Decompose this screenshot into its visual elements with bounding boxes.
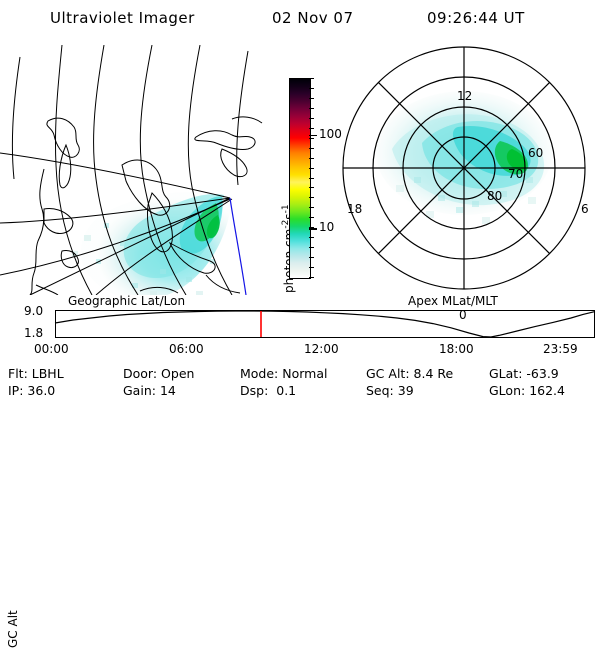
mlat-label-70: 70 [508, 167, 523, 181]
status-flt-key: Flt: [8, 366, 28, 381]
orbit-altitude-plot [55, 310, 595, 338]
status-gain-value: 14 [160, 383, 176, 398]
observation-date: 02 Nov 07 [272, 9, 354, 27]
status-ip-key: IP: [8, 383, 23, 398]
status-mode-key: Mode: [240, 366, 278, 381]
colorbar-minor-tick [309, 187, 314, 188]
colorbar-minor-tick [309, 277, 314, 278]
status-glat-value: -63.9 [526, 366, 558, 381]
orbit-ytick-bottom: 1.8 [24, 326, 43, 340]
orbit-xtick-2: 12:00 [304, 342, 339, 356]
status-glon-key: GLon: [489, 383, 525, 398]
colorbar-minor-tick [309, 128, 314, 129]
status-door-key: Door: [123, 366, 157, 381]
status-flt: Flt: LBHL [8, 366, 64, 381]
mlat-label-80: 80 [487, 189, 502, 203]
polar-plot-panel[interactable]: 12 6 0 18 60 70 80 [330, 45, 600, 295]
orbit-xtick-0: 00:00 [34, 342, 69, 356]
colorbar-minor-tick [309, 138, 314, 139]
colorbar-minor-tick [309, 247, 314, 248]
colorbar-minor-tick [309, 217, 314, 218]
status-seq-key: Seq: [366, 383, 394, 398]
status-seq-value: 39 [398, 383, 414, 398]
mlat-label-60: 60 [528, 146, 543, 160]
colorbar-minor-tick [309, 88, 314, 89]
colorbar-minor-tick [309, 257, 314, 258]
colorbar-minor-tick [309, 148, 314, 149]
status-flt-value: LBHL [32, 366, 64, 381]
orbit-xtick-4: 23:59 [543, 342, 578, 356]
observation-time: 09:26:44 UT [427, 9, 525, 27]
status-door-value: Open [161, 366, 194, 381]
status-dsp-value: 0.1 [276, 383, 296, 398]
status-ip: IP: 36.0 [8, 383, 55, 398]
status-dsp-key: Dsp: [240, 383, 268, 398]
status-glat-key: GLat: [489, 366, 522, 381]
colorbar-minor-tick [309, 237, 314, 238]
status-dsp: Dsp: 0.1 [240, 383, 296, 398]
mlt-label-12: 12 [457, 89, 472, 103]
colorbar-minor-tick [309, 118, 314, 119]
colorbar-gradient-strip [289, 78, 311, 279]
geographic-map-panel[interactable] [0, 45, 268, 295]
colorbar-minor-tick [309, 108, 314, 109]
polar-grid [343, 47, 585, 289]
colorbar-minor-tick [309, 78, 314, 79]
colorbar-minor-tick [309, 267, 314, 268]
colorbar-minor-tick [309, 158, 314, 159]
status-bar: Flt: LBHL Door: Open Mode: Normal GC Alt… [0, 366, 600, 400]
status-mode-value: Normal [282, 366, 327, 381]
mlt-label-18: 18 [347, 202, 362, 216]
orbit-y-axis-label: GC Alt [6, 610, 20, 648]
status-glat: GLat: -63.9 [489, 366, 559, 381]
orbit-ytick-top: 9.0 [24, 304, 43, 318]
status-gcalt-key: GC Alt: [366, 366, 410, 381]
colorbar-minor-tick [309, 207, 314, 208]
status-seq: Seq: 39 [366, 383, 414, 398]
colorbar-minor-tick [309, 168, 314, 169]
orbit-xtick-3: 18:00 [439, 342, 474, 356]
status-gain-key: Gain: [123, 383, 156, 398]
terminator-line [230, 198, 246, 295]
colorbar-minor-tick [309, 98, 314, 99]
colorbar-minor-tick [309, 197, 314, 198]
status-mode: Mode: Normal [240, 366, 328, 381]
mlt-label-6: 6 [581, 202, 589, 216]
status-glon: GLon: 162.4 [489, 383, 565, 398]
colorbar-major-tick [309, 135, 317, 137]
colorbar-major-tick [309, 228, 317, 230]
status-glon-value: 162.4 [529, 383, 565, 398]
instrument-title: Ultraviolet Imager [50, 9, 195, 27]
status-door: Door: Open [123, 366, 194, 381]
status-gcalt-value: 8.4 Re [414, 366, 454, 381]
orbit-xtick-1: 06:00 [169, 342, 204, 356]
status-ip-value: 36.0 [27, 383, 55, 398]
status-gain: Gain: 14 [123, 383, 176, 398]
status-gcalt: GC Alt: 8.4 Re [366, 366, 453, 381]
orbit-altitude-panel[interactable]: GC Alt 9.0 1.8 00:00 06:00 12:00 18:00 2… [0, 300, 600, 355]
colorbar-minor-tick [309, 178, 314, 179]
